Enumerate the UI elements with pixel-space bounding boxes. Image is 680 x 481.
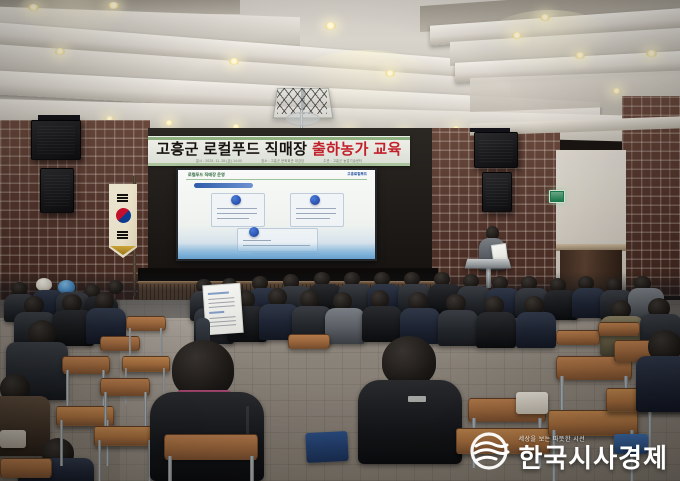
ceiling-downlight [165,120,173,126]
slide-header-rule [186,179,367,180]
slide-bullet-icon-3 [249,227,259,237]
presentation-slide: 로컬푸드 직매장 운영 고흥로컬푸드 [178,170,375,259]
audience-head-foreground [382,336,436,386]
chair-backrest [164,434,258,460]
slide-header-title: 로컬푸드 직매장 운영 [188,172,225,178]
chair-backrest [100,378,150,396]
chair-backrest [288,334,330,349]
slide-wave-graphic [178,243,375,259]
jacket-logo-patch [408,396,426,402]
event-banner: 고흥군 로컬푸드 직매장 출하농가 교육 일시 : 2025. 11. 28.(… [148,136,410,166]
watermark-brand: 한국시사경제 [518,445,668,471]
banner-subtitle-date: 일시 : 2025. 11. 28.(금) 14:00 [196,159,242,163]
slide-section-pill [194,183,253,188]
chair-leg [60,420,63,466]
ceiling-downlight [28,4,39,11]
audience-body [476,312,516,348]
chair-backrest [556,330,600,345]
audience-bag [516,392,548,414]
banner-title-red: 출하농가 교육 [312,141,402,158]
flag-trigram-top [117,200,128,202]
ceiling-downlight [108,2,119,9]
banner-title: 고흥군 로컬푸드 직매장 출하농가 교육 [148,141,410,158]
chair-leg [250,456,254,481]
ceiling-downlight [325,22,336,30]
flag-trigram-bottom [117,237,128,239]
ceiling-downlight [646,50,657,57]
ceiling-downlight [612,88,621,94]
audience-body [438,310,478,346]
ceiling-downlight [229,58,239,65]
ceiling-downlight [575,52,585,59]
watermark-text-block: 세상을 보는 따뜻한 시선 한국시사경제 [518,437,668,471]
flag-trigram-bottom [117,234,128,236]
photograph-scene: 고흥군 로컬푸드 직매장 출하농가 교육 일시 : 2025. 11. 28.(… [0,0,680,481]
ceiling-downlight [385,70,395,77]
audience-body [362,306,402,342]
news-outlet-logo-icon [469,431,513,471]
watermark: 세상을 보는 따뜻한 시선 한국시사경제 [469,431,668,471]
chair-backrest [0,458,52,478]
chair-seat [94,426,154,446]
emergency-exit-sign [549,190,565,203]
ceiling-downlight [540,14,550,21]
chair-backrest [100,336,140,351]
audience-body [516,312,556,348]
audience-item [0,430,26,448]
banner-subtitle: 일시 : 2025. 11. 28.(금) 14:00 장소 : 고흥군 문화회… [148,158,410,163]
flag-trigram-top [117,197,128,199]
flag-trigram-bottom [117,231,128,233]
chair-leg [98,440,101,481]
audience-body-foreground [636,356,680,412]
audience-body [325,308,365,344]
audience-folder [305,431,349,463]
wall-speaker-upper-right [474,132,518,168]
banner-subtitle-place: 장소 : 고흥군 문화회관 대강당 [261,159,304,163]
flag-trigram-top [117,194,128,196]
banner-title-black: 고흥군 로컬푸드 직매장 [156,141,307,158]
podium-top [465,259,512,269]
chair-backrest [598,322,640,336]
wall-speaker-lower-left [40,168,74,213]
audience-head [108,280,123,294]
ceiling [0,0,680,132]
wall-speaker-lower-right [482,172,512,212]
ceiling-downlight [512,32,522,39]
slide-bullet-icon-2 [310,195,320,205]
banner-subtitle-host: 주관 : 고흥군 농업기술센터 [323,159,362,163]
chair-leg [168,456,172,481]
basketball-rim [286,112,320,126]
slide-brand: 고흥로컬푸드 [347,172,367,177]
audience-body-foreground [358,380,462,464]
projection-screen: 로컬푸드 직매장 운영 고흥로컬푸드 [176,168,377,261]
wall-speaker-upper-left [31,120,81,160]
ceiling-downlight [55,48,65,55]
